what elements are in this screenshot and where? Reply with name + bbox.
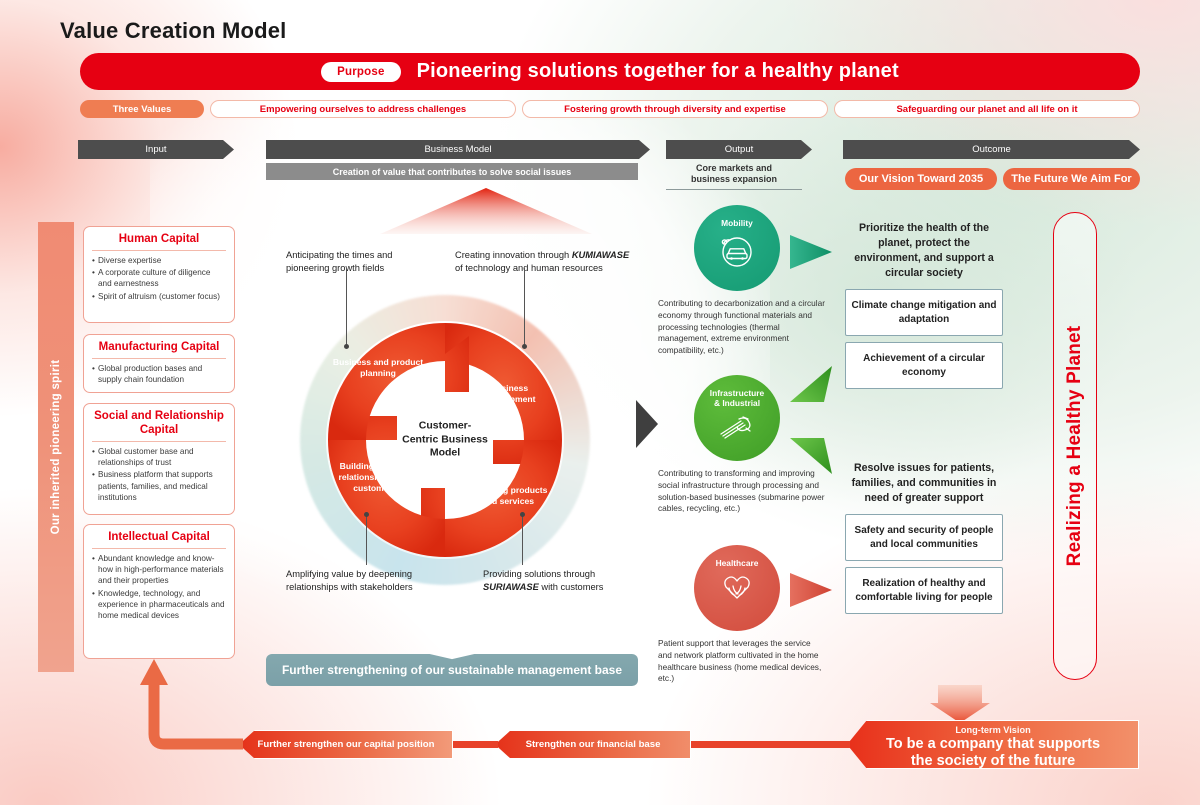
three-values-row: Three Values Empowering ourselves to add…	[80, 100, 1140, 118]
pioneering-spirit-label: Our inherited pioneering spirit	[50, 360, 62, 535]
capital-list-item: Abundant knowledge and know-how in high-…	[92, 553, 226, 587]
long-term-vision-text: To be a company that supports the societ…	[848, 736, 1138, 771]
callout-leader-line	[366, 515, 367, 565]
flow-connector-2	[452, 741, 498, 748]
flow-connector-1	[690, 741, 850, 748]
capital-title: Social and Relationship Capital	[92, 410, 226, 442]
business-model-subtitle: Creation of value that contributes to so…	[266, 163, 638, 180]
outcome-group-planet: Prioritize the health of the planet, pro…	[845, 215, 1003, 395]
capital-card-intellectual: Intellectual Capital Abundant knowledge …	[83, 524, 235, 659]
callout-text: Creating innovation through	[455, 250, 572, 260]
outcome-box-safety: Safety and security of people and local …	[845, 514, 1003, 561]
callout-anticipating: Anticipating the times and pioneering gr…	[286, 249, 456, 274]
outcome-down-arrow	[930, 685, 990, 723]
callout-leader-dot	[520, 512, 525, 517]
cycle-step-products: Providing products and services	[460, 485, 556, 507]
cable-icon	[715, 412, 759, 442]
capital-list: Diverse expertise A corporate culture of…	[92, 255, 226, 302]
capital-title: Manufacturing Capital	[92, 341, 226, 359]
output-description-infrastructure: Contributing to transforming and improvi…	[658, 468, 826, 515]
cycle-center-l2: Centric Business	[402, 433, 488, 445]
callout-leader-dot	[522, 344, 527, 349]
callout-line-2: relationships with stakeholders	[286, 582, 413, 592]
output-circle-healthcare: Healthcare	[694, 545, 780, 631]
outcome-heading: Prioritize the health of the planet, pro…	[845, 215, 1003, 289]
customer-centric-cycle-diagram: Customer- Centric Business Model Busines…	[300, 295, 590, 585]
cycle-center-l1: Customer-	[419, 420, 472, 432]
callout-emphasis: KUMIAWASE	[572, 250, 629, 260]
output-subtitle: Core markets and business expansion	[666, 163, 802, 190]
outcome-box-climate: Climate change mitigation and adaptation	[845, 289, 1003, 336]
callout-leader-dot	[364, 512, 369, 517]
output-circle-mobility: Mobility	[694, 205, 780, 291]
capital-list-item: Diverse expertise	[92, 255, 226, 266]
heart-hands-icon	[715, 571, 759, 605]
callout-line-1: Creating innovation through KUMIAWASE	[455, 250, 629, 260]
callout-emphasis: SURIAWASE	[483, 582, 539, 592]
callout-leader-line	[522, 515, 523, 565]
output-circle-infrastructure: Infrastructure& Industrial	[694, 375, 780, 461]
value-item-1: Empowering ourselves to address challeng…	[210, 100, 516, 118]
callout-line-2: of technology and human resources	[455, 263, 603, 273]
long-term-vision-label: Long-term Vision	[848, 725, 1138, 735]
capital-list: Global production bases and supply chain…	[92, 363, 226, 386]
output-to-outcome-arrow-4	[790, 573, 832, 607]
cycle-center-l3: Model	[430, 447, 460, 459]
capital-card-social: Social and Relationship Capital Global c…	[83, 403, 235, 515]
stage-header-output: Output	[666, 140, 812, 159]
output-to-outcome-arrow-2	[790, 366, 832, 402]
purpose-banner: Purpose Pioneering solutions together fo…	[80, 53, 1140, 90]
pioneering-spirit-band: Our inherited pioneering spirit	[38, 222, 74, 672]
cycle-step-planning: Business and product planning	[330, 357, 426, 379]
output-subtitle-l1: Core markets and	[696, 163, 772, 173]
output-circle-label: Mobility	[721, 218, 753, 228]
callout-line-1: Providing solutions through	[483, 569, 595, 579]
capital-list-item: A corporate culture of diligence and ear…	[92, 267, 226, 290]
output-description-mobility: Contributing to decarbonization and a ci…	[658, 298, 826, 357]
output-circle-label: Healthcare	[716, 558, 759, 568]
callout-line-1: Anticipating the times and	[286, 250, 392, 260]
vision-pill-2035: Our Vision Toward 2035	[845, 168, 997, 190]
stage-header-business-model: Business Model	[266, 140, 650, 159]
realizing-healthy-planet-band: Realizing a Healthy Planet	[1053, 212, 1097, 680]
callout-line-1: Amplifying value by deepening	[286, 569, 412, 579]
capital-list: Abundant knowledge and know-how in high-…	[92, 553, 226, 622]
outcome-box-healthy-living: Realization of healthy and comfortable l…	[845, 567, 1003, 614]
cycle-step-relationships: Building ongoing relationships with cust…	[327, 461, 423, 493]
callout-text: with customers	[539, 582, 604, 592]
value-item-3: Safeguarding our planet and all life on …	[834, 100, 1140, 118]
car-icon	[715, 231, 759, 269]
outcome-group-people: Resolve issues for patients, families, a…	[845, 455, 1003, 620]
three-values-tag: Three Values	[80, 100, 204, 118]
cycle-step-development: Business development	[470, 383, 548, 405]
capital-title: Intellectual Capital	[92, 531, 226, 549]
ltv-line-1: To be a company that supports	[886, 736, 1100, 752]
callout-leader-line	[346, 268, 347, 346]
output-circle-label: Infrastructure& Industrial	[710, 388, 764, 408]
output-to-outcome-arrow-3	[790, 438, 832, 474]
capital-list: Global customer base and relationships o…	[92, 446, 226, 504]
upward-red-arrow	[380, 186, 592, 236]
return-to-capitals-arrow	[130, 655, 250, 767]
capital-list-item: Knowledge, technology, and experience in…	[92, 588, 226, 622]
callout-line-2: SURIAWASE with customers	[483, 582, 603, 592]
capital-card-human: Human Capital Diverse expertise A corpor…	[83, 226, 235, 323]
callout-leader-dot	[344, 344, 349, 349]
output-to-outcome-arrow-1	[790, 235, 832, 269]
purpose-statement: Pioneering solutions together for a heal…	[417, 60, 899, 83]
output-subtitle-l2: business expansion	[691, 174, 777, 184]
stage-header-input: Input	[78, 140, 234, 159]
callout-suriawase: Providing solutions through SURIAWASE wi…	[483, 568, 673, 593]
capital-list-item: Global production bases and supply chain…	[92, 363, 226, 386]
page-title: Value Creation Model	[60, 18, 287, 44]
sustainable-management-base-bar: Further strengthening of our sustainable…	[266, 654, 638, 686]
strengthen-financial-base-arrow: Strengthen our financial base	[495, 730, 691, 759]
outcome-heading: Resolve issues for patients, families, a…	[845, 455, 1003, 514]
callout-kumiawase: Creating innovation through KUMIAWASE of…	[455, 249, 655, 274]
callout-amplifying: Amplifying value by deepening relationsh…	[286, 568, 466, 593]
capital-title: Human Capital	[92, 233, 226, 251]
stage-header-outcome: Outcome	[843, 140, 1140, 159]
business-to-output-arrow	[636, 400, 658, 448]
ltv-line-2: the society of the future	[911, 753, 1075, 769]
cycle-center-label: Customer- Centric Business Model	[395, 420, 495, 461]
capital-card-manufacturing: Manufacturing Capital Global production …	[83, 334, 235, 393]
capital-list-item: Business platform that supports patients…	[92, 469, 226, 503]
capital-list-item: Global customer base and relationships o…	[92, 446, 226, 469]
strengthen-capital-position-arrow: Further strengthen our capital position	[239, 730, 453, 759]
outcome-box-circular: Achievement of a circular economy	[845, 342, 1003, 389]
long-term-vision-banner: Long-term Vision To be a company that su…	[847, 720, 1139, 769]
purpose-tag: Purpose	[321, 62, 400, 82]
value-item-2: Fostering growth through diversity and e…	[522, 100, 828, 118]
output-description-healthcare: Patient support that leverages the servi…	[658, 638, 826, 685]
vision-pill-future: The Future We Aim For	[1003, 168, 1140, 190]
callout-line-2: pioneering growth fields	[286, 263, 384, 273]
capital-list-item: Spirit of altruism (customer focus)	[92, 291, 226, 302]
realizing-healthy-planet-label: Realizing a Healthy Planet	[1064, 326, 1086, 567]
callout-leader-line	[524, 268, 525, 346]
